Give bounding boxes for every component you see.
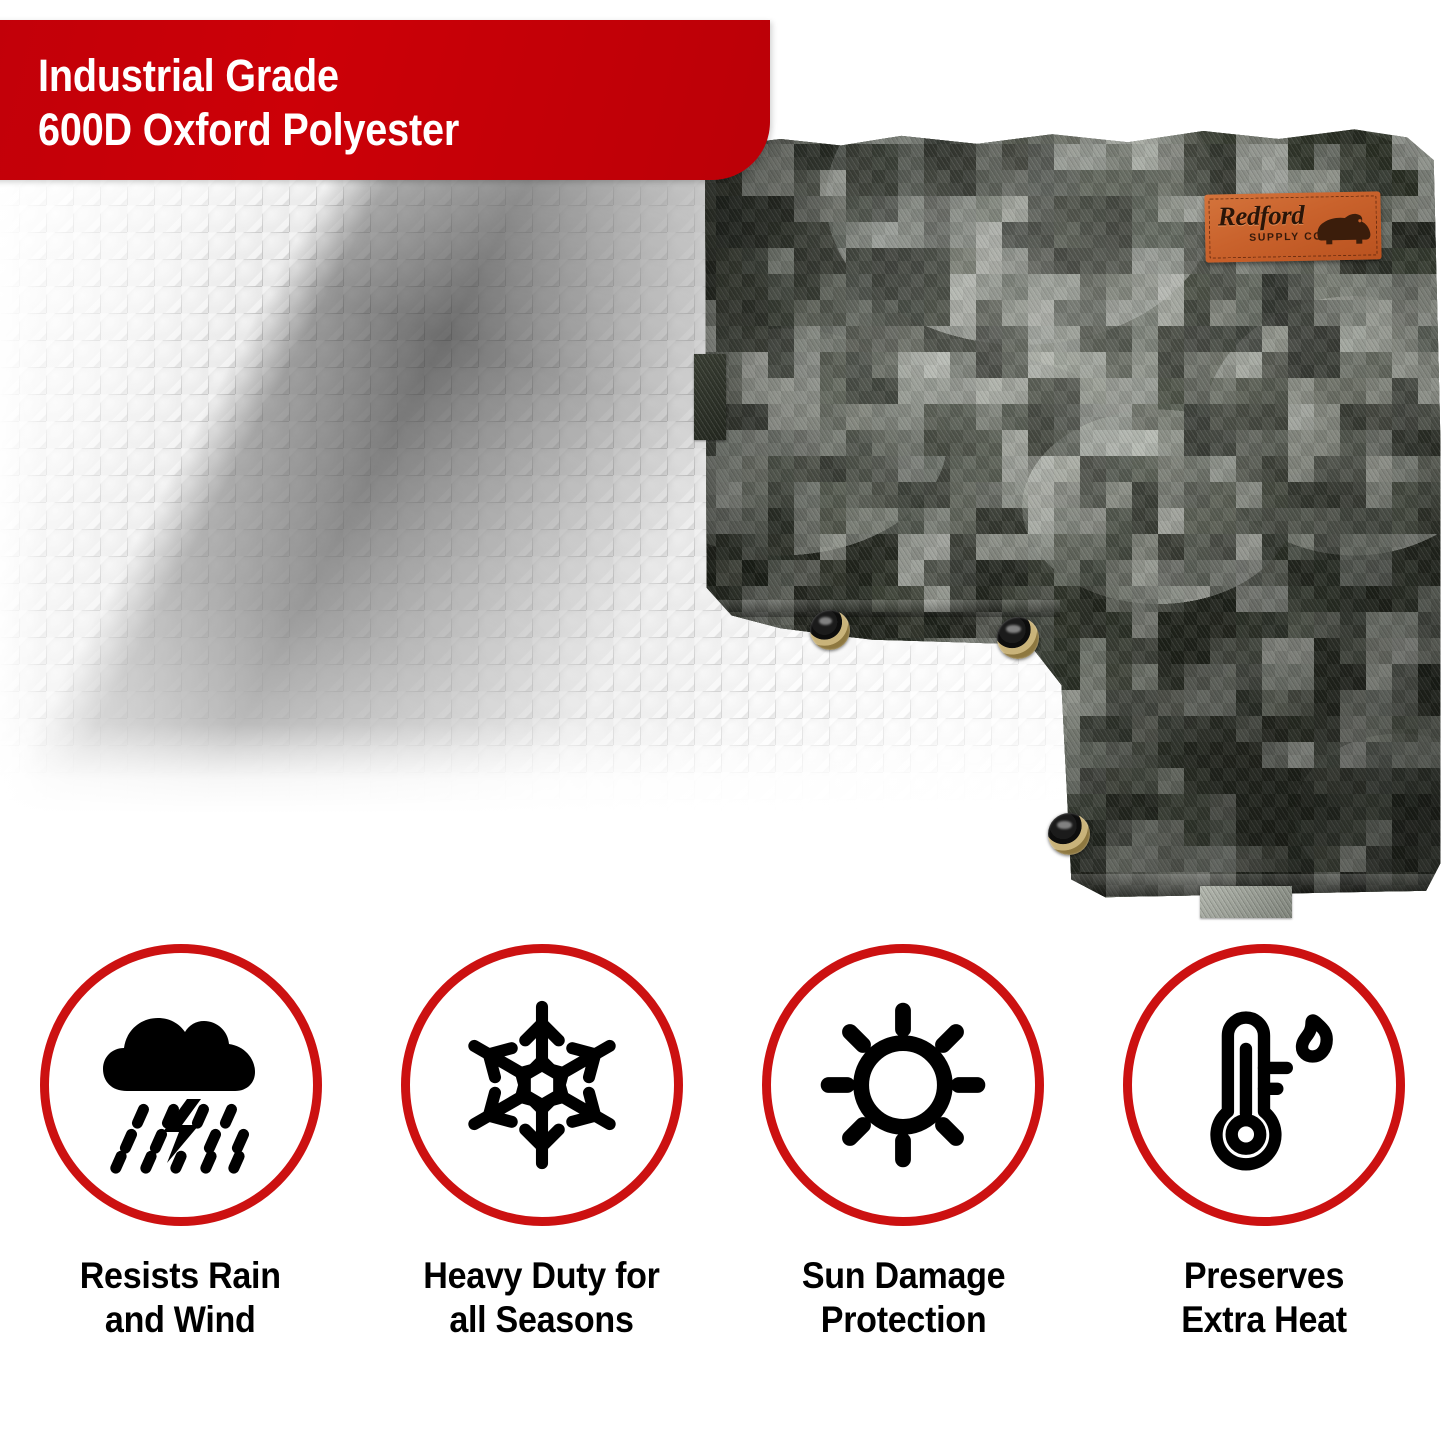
grommet [1048, 813, 1090, 855]
thermometer-flame-icon [1169, 990, 1359, 1180]
side-tab [694, 354, 726, 440]
rain-cloud-icon [83, 987, 279, 1183]
feature-caption-line-1: Preserves [1182, 1254, 1348, 1298]
feature-icon-ring [762, 944, 1044, 1226]
feature-caption-line-2: Protection [801, 1298, 1004, 1342]
grommet [810, 610, 850, 650]
feature-caption-line-1: Resists Rain [80, 1254, 281, 1298]
foil-left-fade [0, 178, 38, 814]
feature-caption: Resists Rain and Wind [80, 1254, 281, 1342]
feature-item: Heavy Duty for all Seasons [361, 930, 722, 1445]
headline-line-2: 600D Oxford Polyester [38, 104, 459, 156]
bottom-tab [1200, 886, 1292, 918]
feature-item: Sun Damage Protection [723, 930, 1084, 1445]
feature-icon-ring [401, 944, 683, 1226]
headline-banner: Industrial Grade 600D Oxford Polyester [0, 20, 770, 180]
snowflake-icon [449, 992, 635, 1178]
feature-caption-line-1: Sun Damage [801, 1254, 1004, 1298]
feature-row: Resists Rain and Wind [0, 930, 1445, 1445]
grommet [997, 617, 1039, 659]
feature-item: Resists Rain and Wind [0, 930, 361, 1445]
feature-item: Preserves Extra Heat [1084, 930, 1445, 1445]
headline-line-1: Industrial Grade [38, 50, 339, 102]
feature-caption: Sun Damage Protection [801, 1254, 1004, 1342]
feature-caption: Preserves Extra Heat [1182, 1254, 1348, 1342]
brand-name: Redford [1218, 202, 1305, 231]
feature-caption-line-2: all Seasons [424, 1298, 660, 1342]
feature-caption-line-2: and Wind [80, 1298, 281, 1342]
feature-caption-line-1: Heavy Duty for [424, 1254, 660, 1298]
bear-icon [1310, 203, 1373, 248]
feature-caption: Heavy Duty for all Seasons [424, 1254, 660, 1342]
sun-icon [810, 992, 996, 1178]
feature-icon-ring [40, 944, 322, 1226]
feature-icon-ring [1123, 944, 1405, 1226]
feature-caption-line-2: Extra Heat [1182, 1298, 1348, 1342]
brand-logo-patch: Redford SUPPLY CO. [1204, 191, 1381, 262]
